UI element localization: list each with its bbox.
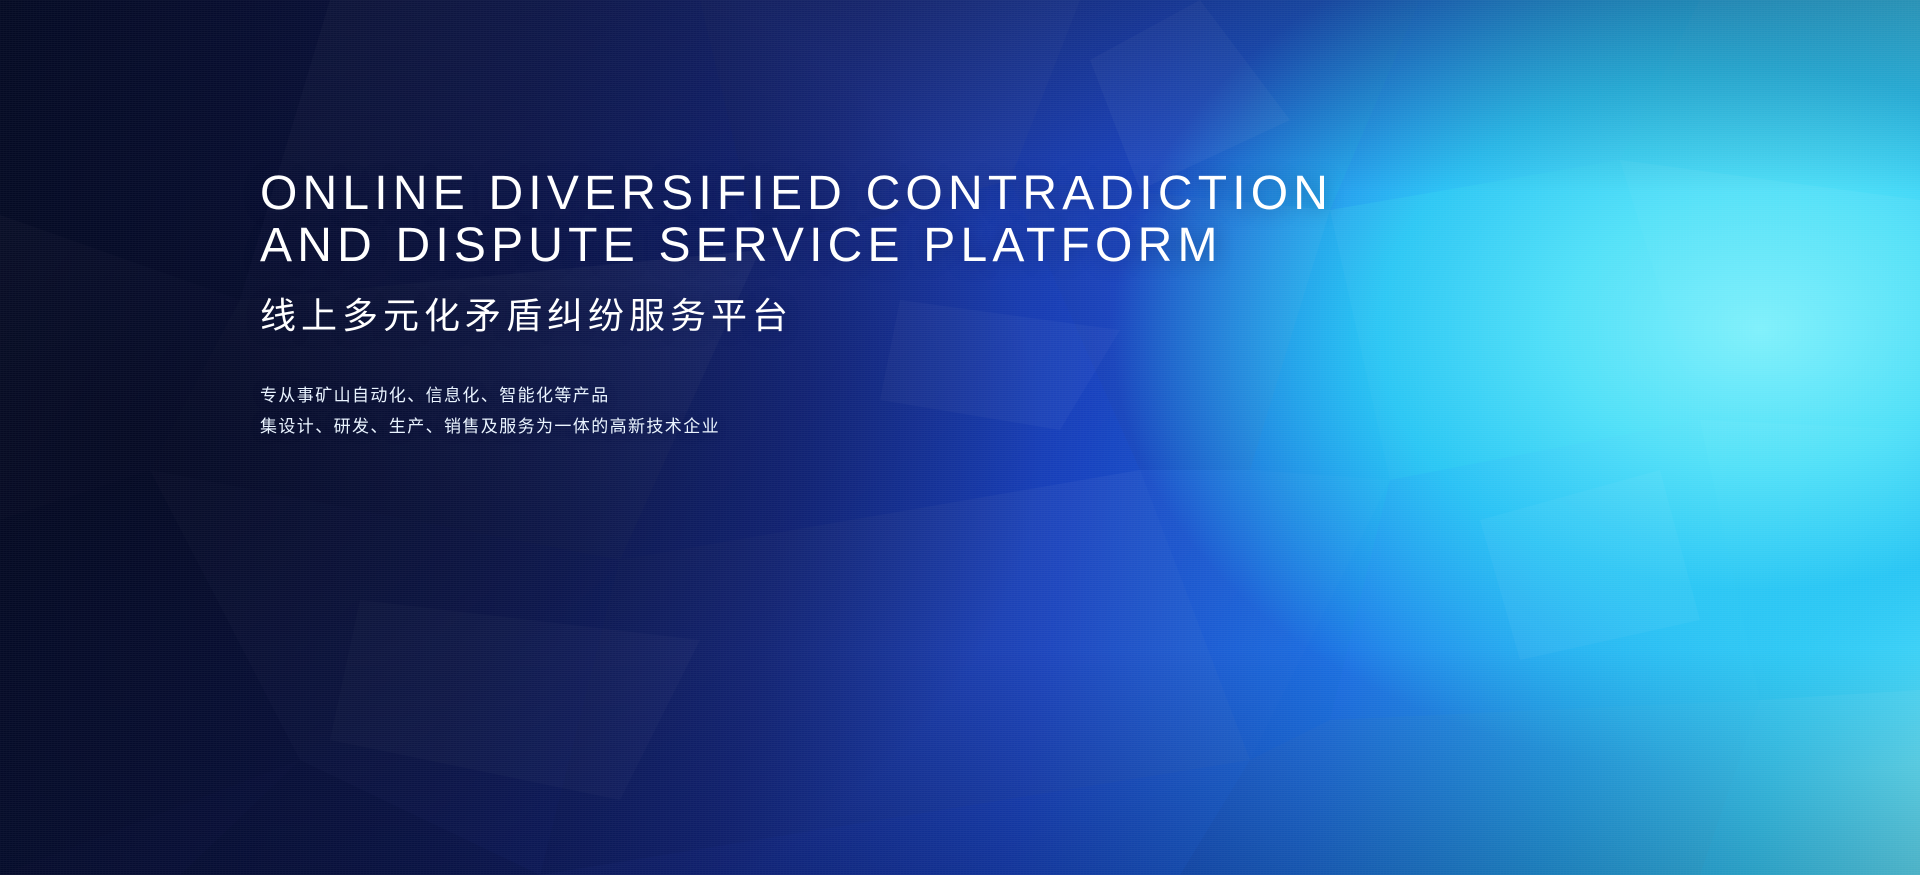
headline-line-2: AND DISPUTE SERVICE PLATFORM xyxy=(260,220,1520,272)
banner-description: 专从事矿山自动化、信息化、智能化等产品 集设计、研发、生产、销售及服务为一体的高… xyxy=(260,380,1520,442)
description-line-2: 集设计、研发、生产、销售及服务为一体的高新技术企业 xyxy=(260,411,1520,442)
hero-banner: ONLINE DIVERSIFIED CONTRADICTION AND DIS… xyxy=(0,0,1920,875)
banner-headline: ONLINE DIVERSIFIED CONTRADICTION AND DIS… xyxy=(260,168,1520,272)
banner-subtitle: 线上多元化矛盾纠纷服务平台 xyxy=(260,294,1520,338)
headline-line-1: ONLINE DIVERSIFIED CONTRADICTION xyxy=(260,168,1520,220)
banner-content: ONLINE DIVERSIFIED CONTRADICTION AND DIS… xyxy=(260,168,1520,442)
description-line-1: 专从事矿山自动化、信息化、智能化等产品 xyxy=(260,380,1520,411)
